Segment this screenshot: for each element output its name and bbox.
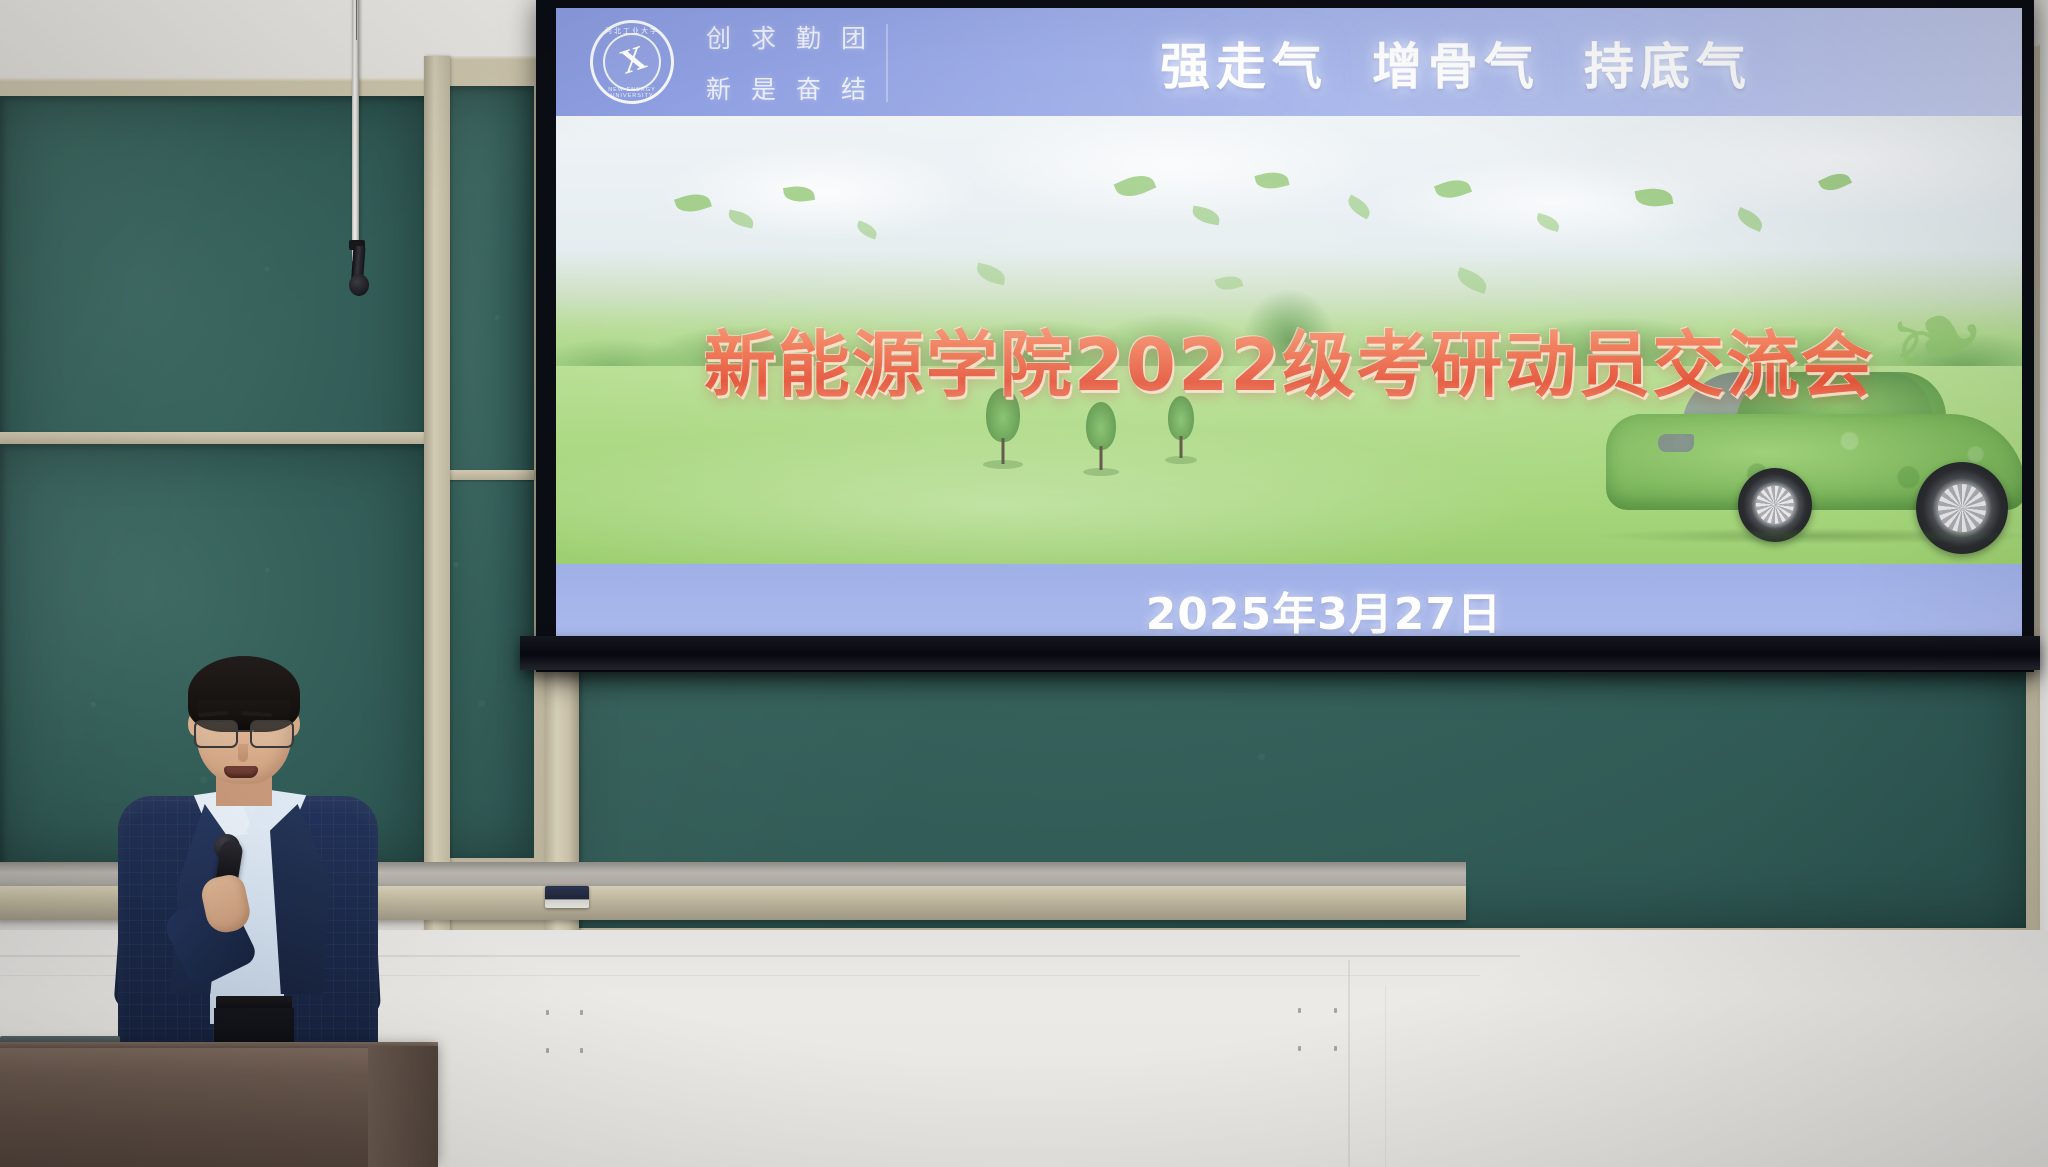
seal-text-en: NEW ENERGY UNIVERSITY	[590, 87, 674, 99]
speaker-person	[118, 644, 378, 1064]
presentation-slide[interactable]: 河北工业大学 X NEW ENERGY UNIVERSITY 创 求 勤 团 新…	[556, 8, 2022, 638]
board-stile-middle	[424, 56, 450, 936]
wall-screw	[1334, 1046, 1337, 1051]
slogan-part-3: 持底气	[1584, 27, 1752, 99]
speaker-mouth	[224, 766, 258, 778]
university-motto: 创 求 勤 团 新 是 奋 结	[706, 26, 866, 102]
car-side-mirror	[1658, 434, 1694, 452]
motto-char: 创	[706, 26, 731, 51]
wall-screw	[546, 1010, 549, 1015]
podium-side	[368, 1046, 438, 1167]
slide-footer-band: 2025年3月27日	[556, 564, 2022, 638]
wall-screw	[1334, 1008, 1337, 1013]
slide-header-band: 河北工业大学 X NEW ENERGY UNIVERSITY 创 求 勤 团 新…	[556, 8, 2022, 116]
wall-screw	[580, 1010, 583, 1015]
slide-background-image: ❧	[556, 116, 2022, 564]
motto-char: 是	[751, 77, 776, 102]
foreground-tree	[1086, 402, 1116, 472]
motto-char: 结	[841, 77, 866, 102]
motto-char: 团	[841, 26, 866, 51]
blackboard-eraser	[545, 886, 589, 908]
wall-screw	[546, 1048, 549, 1053]
wall-screw	[1298, 1008, 1301, 1013]
wall-screw	[1298, 1046, 1301, 1051]
slide-title: 新能源学院2022级考研动员交流会	[556, 306, 2022, 411]
motto-char: 新	[706, 77, 731, 102]
motto-row-2: 新 是 奋 结	[706, 77, 866, 102]
wall-seam-vertical-1	[1348, 960, 1350, 1167]
motto-divider	[886, 24, 888, 102]
slogan-part-1: 强走气	[1160, 27, 1328, 99]
slogan-part-2: 增骨气	[1372, 27, 1540, 99]
speaker-nose	[238, 744, 248, 762]
wall-seam-vertical-2	[1385, 985, 1386, 1167]
motto-char: 求	[751, 26, 776, 51]
motto-row-1: 创 求 勤 团	[706, 26, 866, 51]
classroom-scene: 河北工业大学 X NEW ENERGY UNIVERSITY 创 求 勤 团 新…	[0, 0, 2048, 1167]
seal-text-cn: 河北工业大学	[590, 26, 674, 36]
mic-wire	[356, 0, 357, 40]
chalkboard-left-divider	[0, 432, 430, 444]
slide-date: 2025年3月27日	[1146, 578, 1502, 638]
university-seal-icon: 河北工业大学 X NEW ENERGY UNIVERSITY	[590, 20, 674, 104]
motto-char: 勤	[796, 26, 821, 51]
slide-slogan: 强走气 增骨气 持底气	[926, 24, 1986, 102]
ceiling-mic-head	[349, 274, 369, 296]
motto-char: 奋	[796, 77, 821, 102]
projection-screen-bottom-bar	[520, 636, 2040, 670]
eyeglasses-icon	[194, 720, 294, 746]
wall-screw	[580, 1048, 583, 1053]
